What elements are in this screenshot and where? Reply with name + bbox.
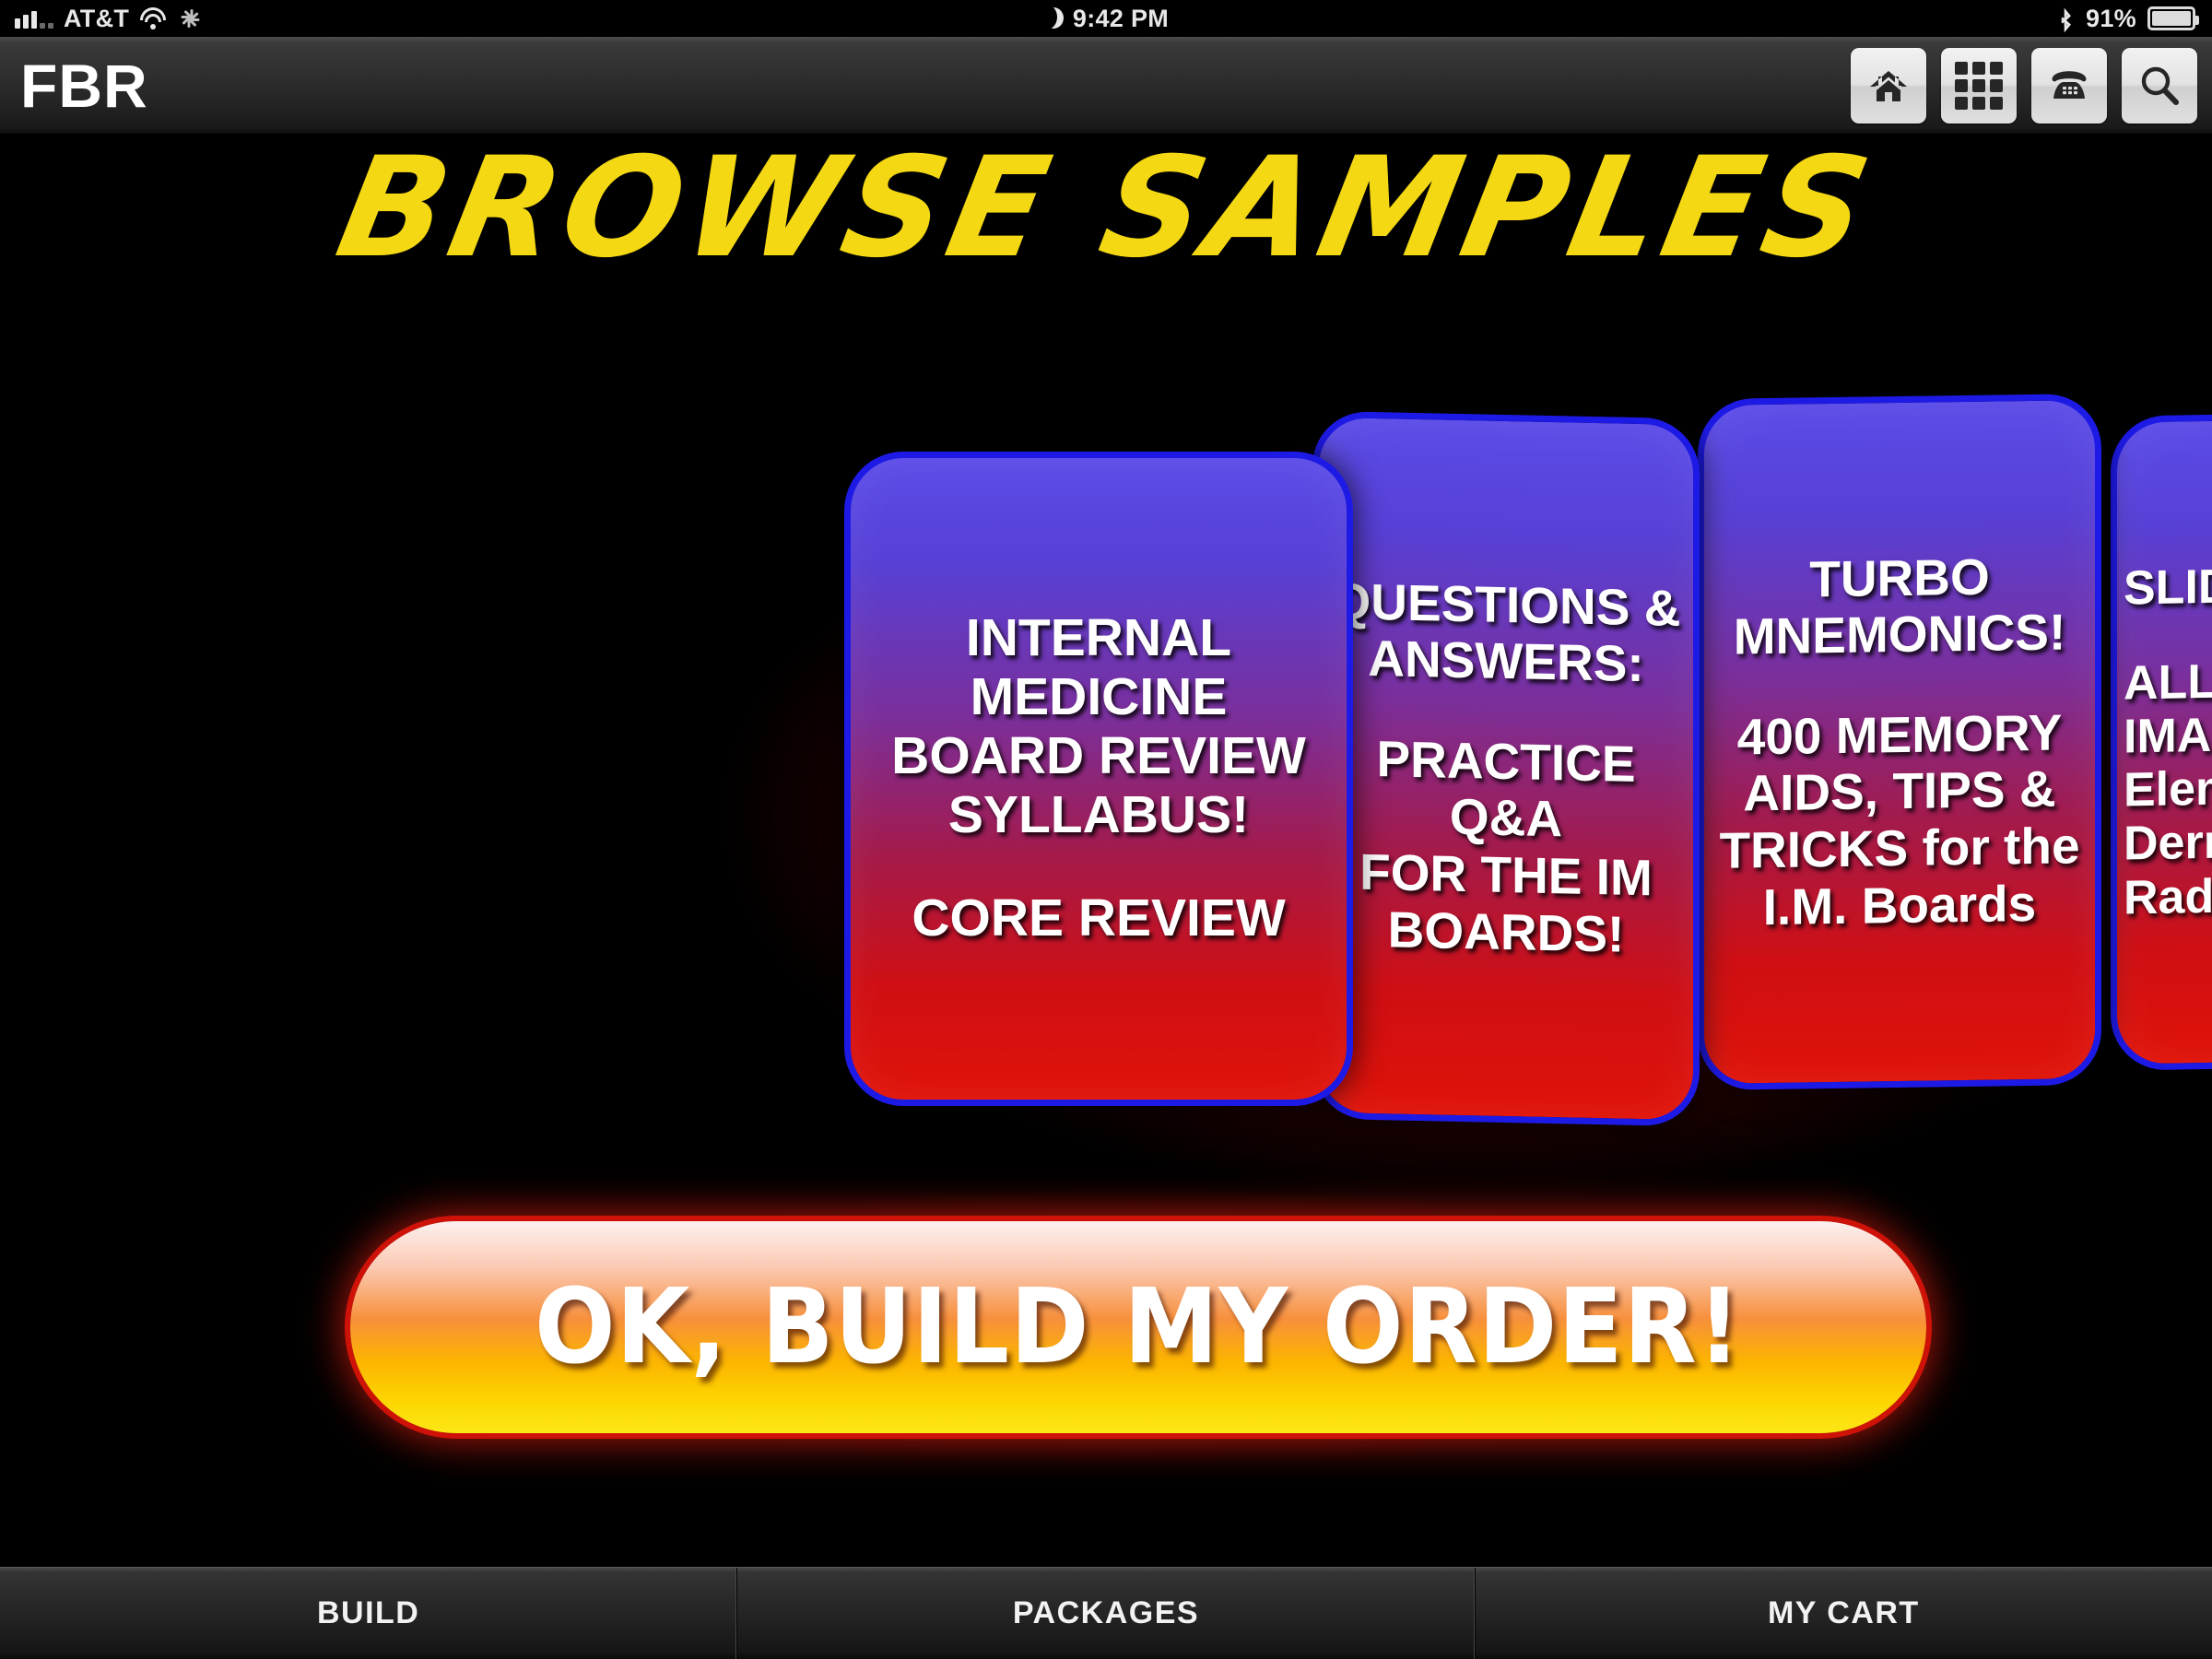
status-bar-center: 9:42 PM xyxy=(0,5,2212,33)
grid-icon xyxy=(1955,62,2003,110)
sample-card-questions-answers[interactable]: QUESTIONS & ANSWERS: PRACTICE Q&A FOR TH… xyxy=(1312,411,1700,1127)
tab-build-label: BUILD xyxy=(317,1595,419,1631)
moon-icon xyxy=(1043,6,1064,30)
categories-button[interactable] xyxy=(1941,48,2017,124)
cta-button-region: OK, BUILD MY ORDER! xyxy=(304,1180,1972,1475)
tab-packages[interactable]: PACKAGES xyxy=(737,1568,1475,1659)
tab-bar: BUILD PACKAGES MY CART xyxy=(0,1567,2212,1659)
status-bar: AT&T 9:42 PM xyxy=(0,0,2212,37)
app-root: AT&T 9:42 PM xyxy=(0,0,2212,1659)
search-button[interactable] xyxy=(2122,48,2197,124)
call-button[interactable] xyxy=(2031,48,2107,124)
sample-card-heading: QUESTIONS & ANSWERS: xyxy=(1321,573,1692,695)
sample-card-body: CORE REVIEW xyxy=(900,889,1296,948)
bluetooth-icon xyxy=(2056,5,2075,32)
tab-packages-label: PACKAGES xyxy=(1013,1595,1199,1631)
page-title: BROWSE SAMPLES xyxy=(0,136,2212,282)
battery-percent-label: 91% xyxy=(2086,5,2136,33)
clock-label: 9:42 PM xyxy=(1073,5,1169,33)
sample-card-heading: TURBO MNEMONICS! xyxy=(1723,547,2077,666)
sample-card-body: PRACTICE Q&A FOR THE IM BOARDS! xyxy=(1319,730,1693,965)
sample-carousel[interactable]: SLIDE SET ALL THE IMAGES Elements Derm; … xyxy=(0,406,2212,1180)
tab-build[interactable]: BUILD xyxy=(0,1568,737,1659)
sample-card-body: 400 MEMORY AIDS, TIPS & TRICKS for the I… xyxy=(1708,704,2090,936)
sample-card-im-board-review-syllabus[interactable]: INTERNAL MEDICINE BOARD REVIEW SYLLABUS!… xyxy=(844,452,1353,1106)
telephone-icon xyxy=(2047,66,2091,105)
search-icon xyxy=(2138,65,2181,107)
nav-button-group xyxy=(1851,48,2197,124)
tab-my-cart[interactable]: MY CART xyxy=(1476,1568,2212,1659)
nav-bar: FBR xyxy=(0,37,2212,135)
sample-card-heading: SLIDE SET xyxy=(2111,555,2212,616)
sample-card-body: ALL THE IMAGES Elements Derm; Radiology xyxy=(2111,650,2212,925)
tab-my-cart-label: MY CART xyxy=(1768,1595,1920,1631)
sample-card-slide-set[interactable]: SLIDE SET ALL THE IMAGES Elements Derm; … xyxy=(2111,409,2212,1071)
home-button[interactable] xyxy=(1851,48,1926,124)
build-my-order-label: OK, BUILD MY ORDER! xyxy=(535,1267,1742,1387)
battery-icon xyxy=(2147,6,2195,30)
status-bar-right: 91% xyxy=(2056,5,2195,33)
home-icon xyxy=(1868,67,1909,104)
brand-logo[interactable]: FBR xyxy=(20,51,148,121)
sample-card-heading: INTERNAL MEDICINE BOARD REVIEW SYLLABUS! xyxy=(880,609,1317,844)
build-my-order-button[interactable]: OK, BUILD MY ORDER! xyxy=(350,1221,1926,1433)
sample-card-turbo-mnemonics[interactable]: TURBO MNEMONICS! 400 MEMORY AIDS, TIPS &… xyxy=(1698,394,2101,1090)
